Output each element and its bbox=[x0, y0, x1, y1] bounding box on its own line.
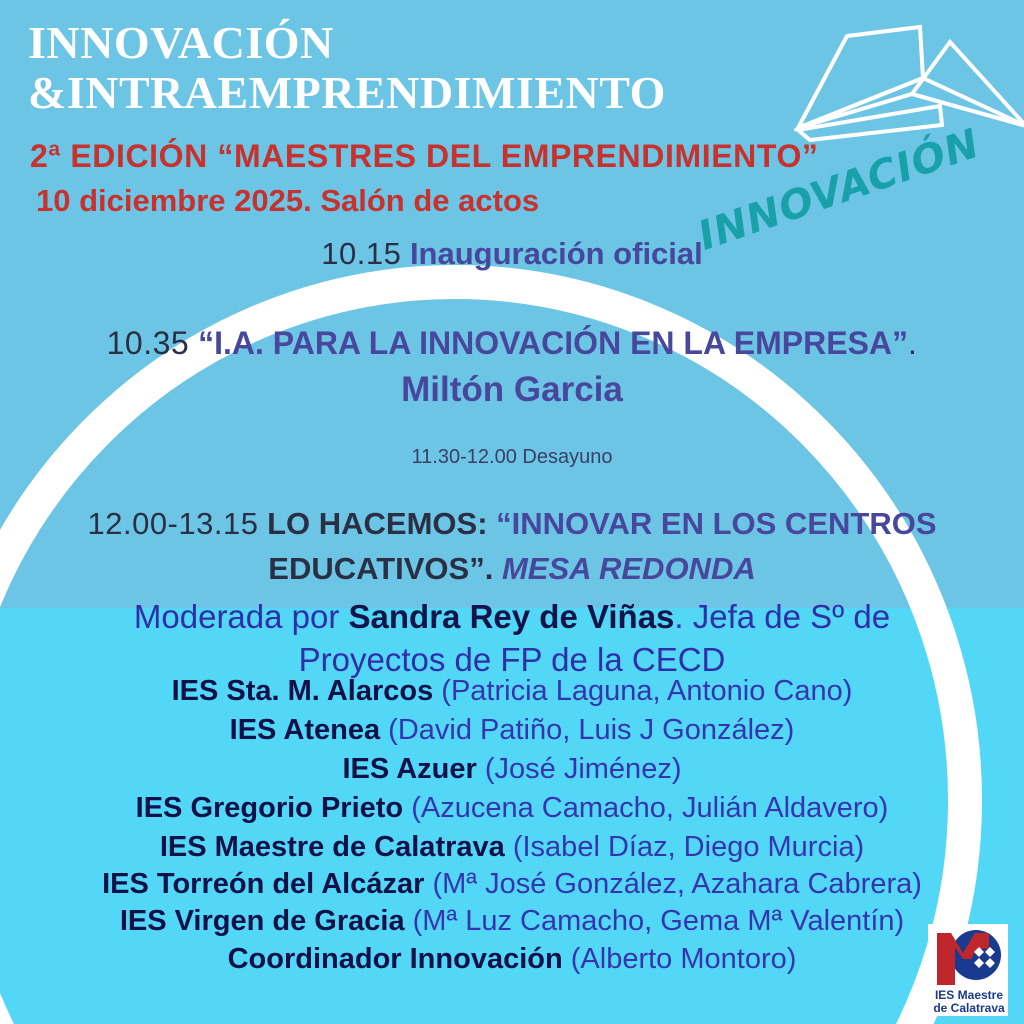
participant-people: (Azucena Camacho, Julián Aldavero) bbox=[411, 792, 888, 824]
participant-people: (Mª José González, Azahara Cabrera) bbox=[432, 868, 921, 900]
participant-row: IES Gregorio Prieto (Azucena Camacho, Ju… bbox=[0, 792, 1024, 825]
logo-text-line1: IES Maestre bbox=[929, 989, 1008, 1001]
participant-people: (David Patiño, Luis J González) bbox=[388, 714, 794, 746]
participant-row: IES Virgen de Gracia (Mª Luz Camacho, Ge… bbox=[0, 905, 1024, 938]
schedule-time: 12.00-13.15 bbox=[87, 506, 258, 541]
poster-title-line2: &INTRAEMPRENDIMIENTO bbox=[28, 70, 666, 116]
poster-title-line1: INNOVACIÓN bbox=[28, 20, 334, 66]
school-logo: IES Maestre de Calatrava bbox=[928, 924, 1008, 1016]
participant-people: (Patricia Laguna, Antonio Cano) bbox=[441, 675, 852, 707]
schedule-title-part1: LO HACEMOS: bbox=[267, 506, 487, 541]
schedule-item-ia: 10.35 “I.A. PARA LA INNOVACIÓN EN LA EMP… bbox=[0, 325, 1024, 362]
schedule-item-break: 11.30-12.00 Desayuno bbox=[0, 446, 1024, 469]
participant-people: (Alberto Montoro) bbox=[571, 943, 797, 975]
schedule-title: “I.A. PARA LA INNOVACIÓN EN LA EMPRESA” bbox=[198, 325, 908, 361]
schedule-title-suffix: . bbox=[485, 551, 494, 586]
schedule-title-part3: EDUCATIVOS” bbox=[268, 551, 484, 586]
poster-subtitle-date: 10 diciembre 2025. Salón de actos bbox=[36, 183, 539, 219]
participant-school: IES Virgen de Gracia bbox=[120, 905, 405, 937]
participant-school: IES Azuer bbox=[343, 753, 477, 785]
participant-school: IES Sta. M. Alarcos bbox=[172, 675, 434, 707]
schedule-item-mesa-redonda-line1: 12.00-13.15 LO HACEMOS: “INNOVAR EN LOS … bbox=[0, 506, 1024, 542]
participant-people: (Mª Luz Camacho, Gema Mª Valentín) bbox=[413, 905, 905, 937]
moderator-prefix: Moderada por bbox=[134, 598, 339, 635]
participant-school: IES Torreón del Alcázar bbox=[102, 868, 424, 900]
schedule-time: 10.35 bbox=[107, 325, 190, 361]
event-poster: INNOVACIÓN &INTRAEMPRENDIMIENTO 2ª EDICI… bbox=[0, 0, 1024, 1024]
participant-row: IES Maestre de Calatrava (Isabel Díaz, D… bbox=[0, 831, 1024, 864]
schedule-item-inauguracion: 10.15 Inauguración oficial bbox=[0, 236, 1024, 272]
participant-school: IES Atenea bbox=[230, 714, 380, 746]
schedule-item-mesa-redonda-line2: EDUCATIVOS”. MESA REDONDA bbox=[0, 551, 1024, 587]
participant-row: IES Atenea (David Patiño, Luis J Gonzále… bbox=[0, 714, 1024, 747]
schedule-title: Inauguración oficial bbox=[410, 236, 703, 271]
participant-row: IES Sta. M. Alarcos (Patricia Laguna, An… bbox=[0, 675, 1024, 708]
poster-subtitle-edition: 2ª EDICIÓN “MAESTRES DEL EMPRENDIMIENTO” bbox=[30, 138, 819, 175]
participant-people: (Isabel Díaz, Diego Murcia) bbox=[513, 831, 864, 863]
schedule-time: 10.15 bbox=[321, 236, 401, 271]
participant-row: Coordinador Innovación (Alberto Montoro) bbox=[0, 943, 1024, 976]
moderator-line1: Moderada por Sandra Rey de Viñas. Jefa d… bbox=[0, 598, 1024, 636]
schedule-title-part2: “INNOVAR EN LOS CENTROS bbox=[496, 506, 936, 541]
schedule-speaker: Miltón Garcia bbox=[0, 370, 1024, 410]
moderator-line2: Proyectos de FP de la CECD bbox=[0, 641, 1024, 679]
participant-school: Coordinador Innovación bbox=[228, 943, 563, 975]
logo-mark-icon bbox=[929, 925, 1008, 991]
schedule-format: MESA REDONDA bbox=[502, 551, 756, 586]
participant-people: (José Jiménez) bbox=[485, 753, 682, 785]
logo-text-line2: de Calatrava bbox=[929, 1002, 1008, 1014]
schedule-title-suffix: . bbox=[908, 325, 917, 361]
participant-school: IES Maestre de Calatrava bbox=[160, 831, 505, 863]
participant-row: IES Azuer (José Jiménez) bbox=[0, 753, 1024, 786]
paper-plane-icon bbox=[790, 18, 1024, 153]
participant-school: IES Gregorio Prieto bbox=[136, 792, 404, 824]
participant-row: IES Torreón del Alcázar (Mª José Gonzále… bbox=[0, 868, 1024, 901]
moderator-role-line1: . Jefa de Sº de bbox=[674, 598, 890, 635]
moderator-name: Sandra Rey de Viñas bbox=[349, 598, 675, 635]
